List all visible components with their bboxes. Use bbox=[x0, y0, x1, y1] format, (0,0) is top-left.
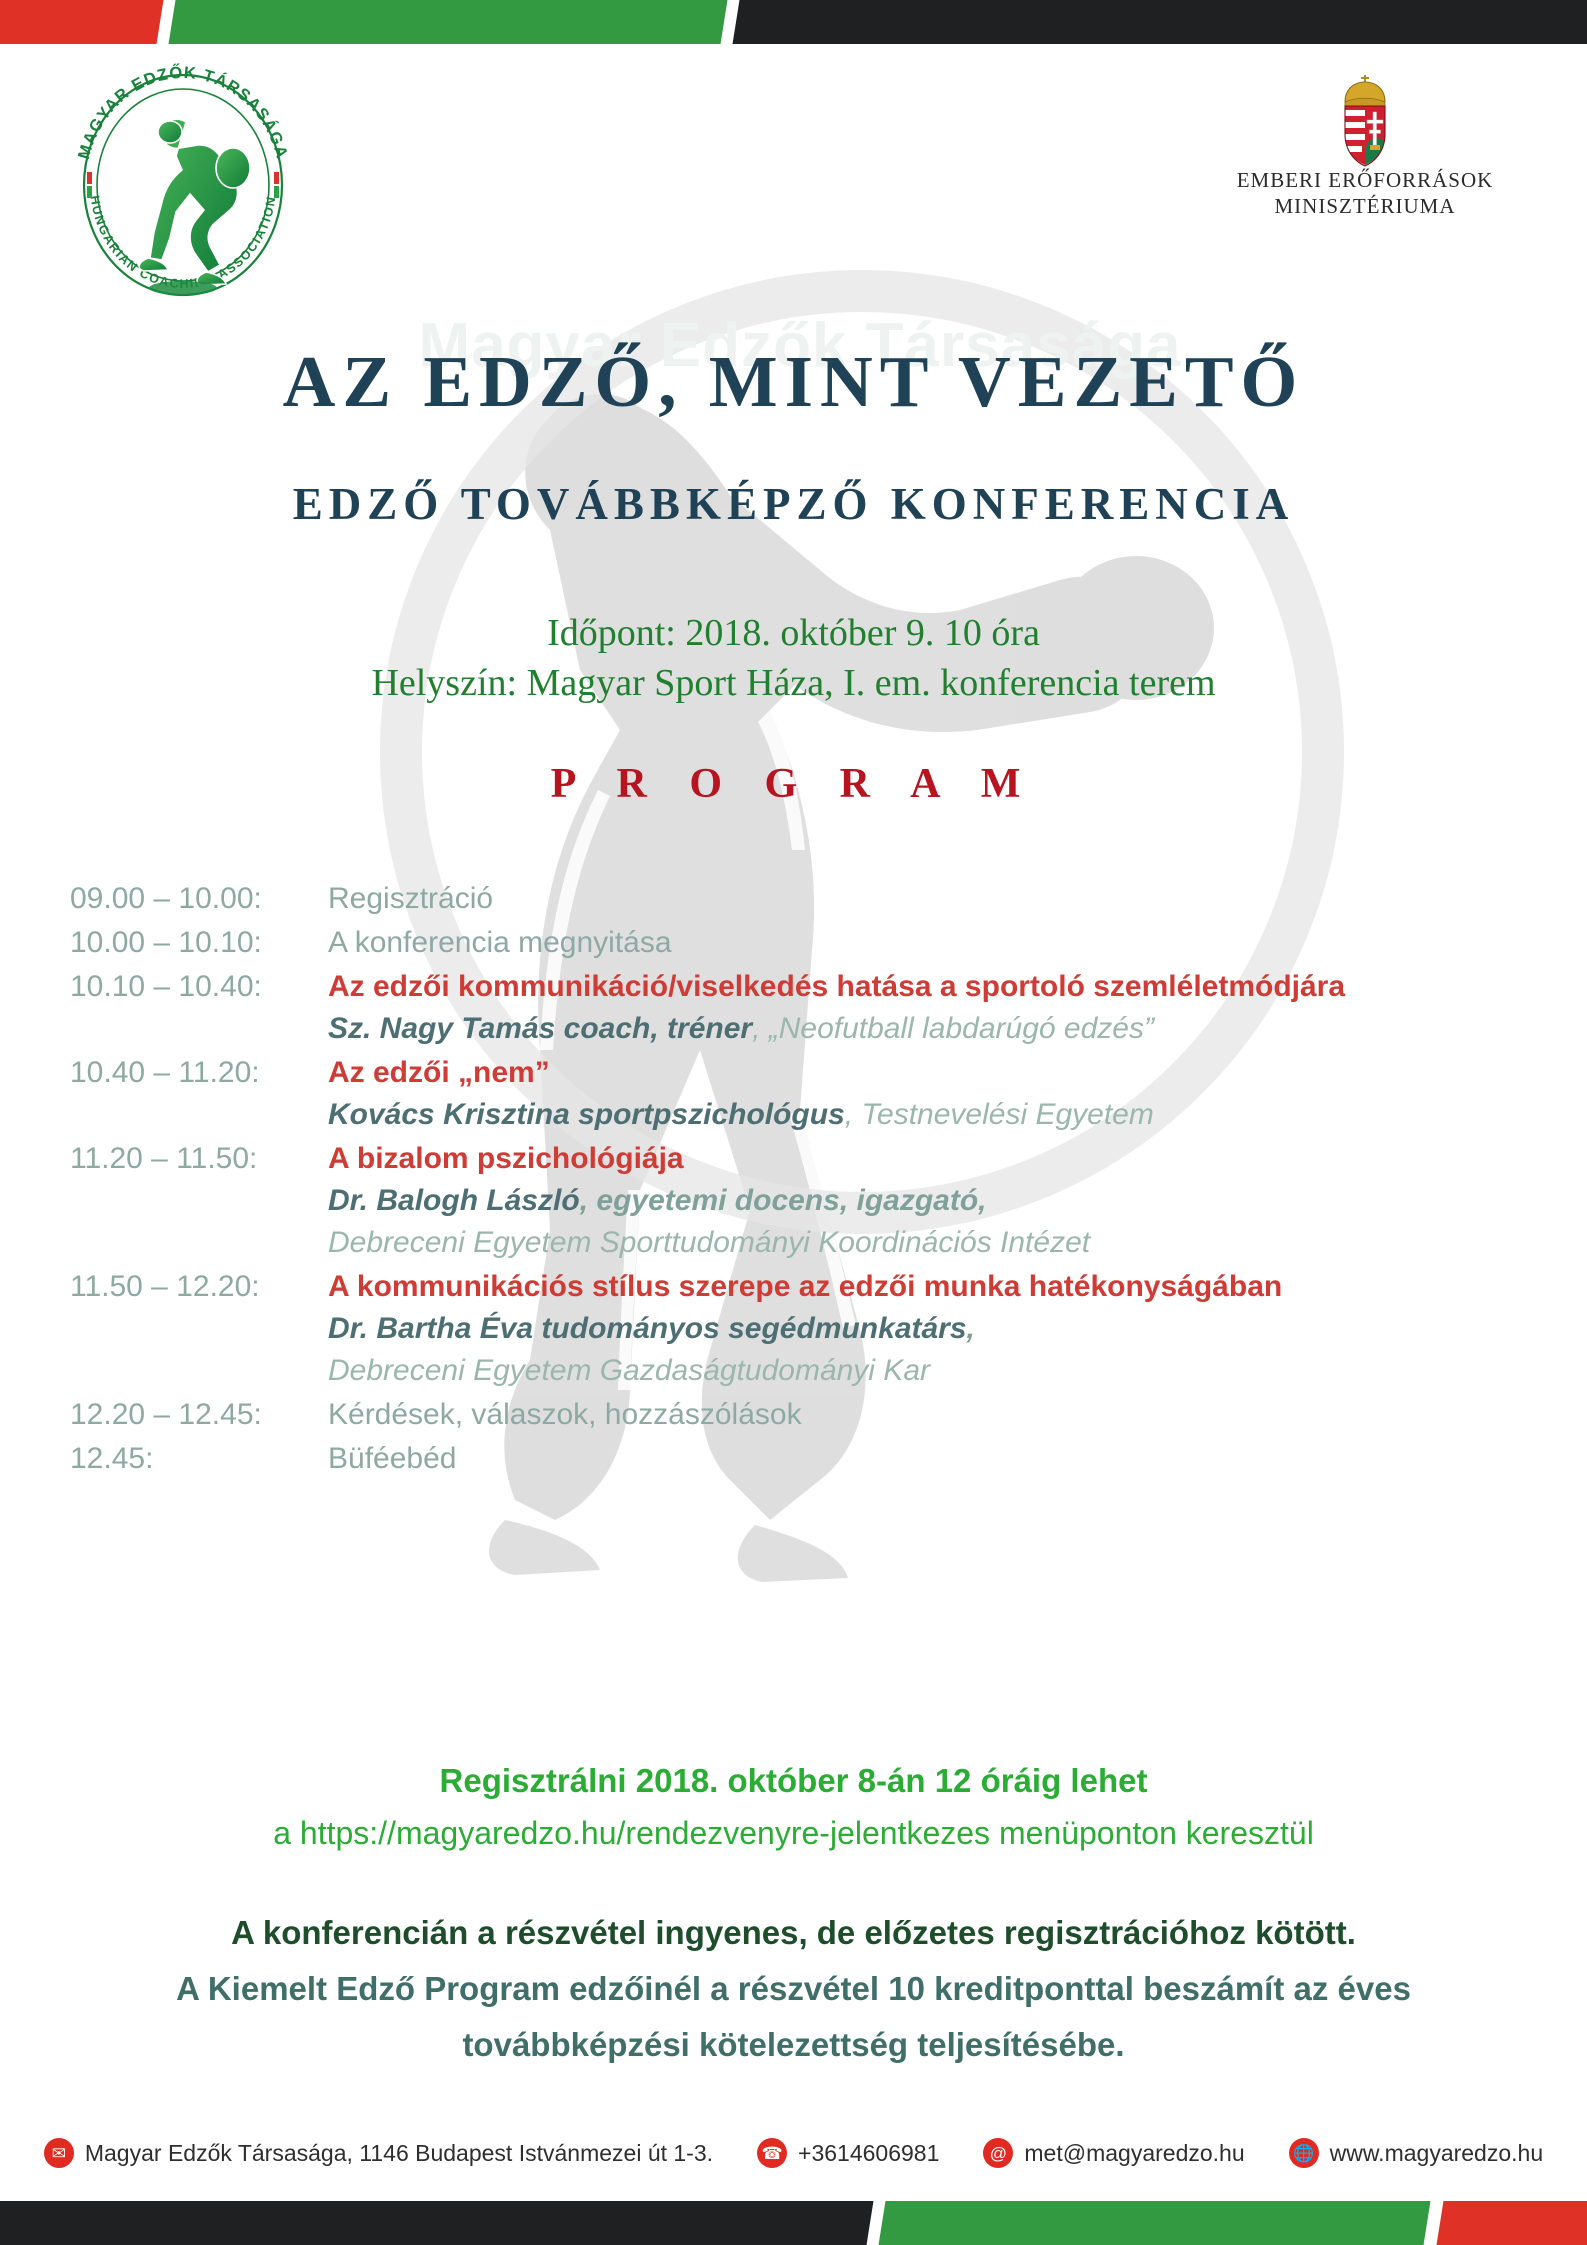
ministry-logo: EMBERI ERŐFORRÁSOK MINISZTÉRIUMA bbox=[1235, 72, 1495, 232]
schedule-title: Regisztráció bbox=[328, 878, 1540, 920]
footer-website-text: www.magyaredzo.hu bbox=[1330, 2140, 1544, 2167]
footer-phone[interactable]: ☎ +3614606981 bbox=[757, 2138, 939, 2168]
schedule-time: 10.10 – 10.40: bbox=[70, 966, 328, 1008]
schedule-presenter: Dr. Bartha Éva tudományos segédmunkatárs… bbox=[328, 1308, 1540, 1350]
ministry-line-1: EMBERI ERŐFORRÁSOK bbox=[1235, 168, 1495, 194]
schedule-time: 11.50 – 12.20: bbox=[70, 1266, 328, 1308]
top-flag-bar bbox=[0, 0, 1587, 44]
globe-icon: 🌐 bbox=[1289, 2138, 1319, 2168]
svg-text:MAGYAR EDZŐK TÁRSASÁGA: MAGYAR EDZŐK TÁRSASÁGA bbox=[75, 63, 291, 161]
association-logo: MAGYAR EDZŐK TÁRSASÁGA HUNGARIAN COACHIN… bbox=[58, 60, 308, 310]
footer-phone-text: +3614606981 bbox=[798, 2140, 939, 2167]
notes-block: A konferencián a részvétel ingyenes, de … bbox=[0, 1905, 1587, 2073]
footer-address: ✉ Magyar Edzők Társasága, 1146 Budapest … bbox=[44, 2138, 713, 2168]
footer-contact-bar: ✉ Magyar Edzők Társasága, 1146 Budapest … bbox=[0, 2125, 1587, 2181]
footer-email-text: met@magyaredzo.hu bbox=[1024, 2140, 1244, 2167]
speaker-name: Dr. Balogh László bbox=[328, 1184, 580, 1217]
speaker-role: , egyetemi docens, igazgató, bbox=[580, 1184, 987, 1217]
schedule-title: Büféebéd bbox=[328, 1438, 1540, 1480]
speaker-affiliation: Debreceni Egyetem Gazdaságtudományi Kar bbox=[328, 1350, 1540, 1392]
schedule-row: 11.20 – 11.50: A bizalom pszichológiája … bbox=[70, 1138, 1540, 1264]
hungarian-coat-of-arms-icon bbox=[1330, 72, 1400, 168]
program-heading: P R O G R A M bbox=[0, 760, 1587, 808]
schedule-title: A kommunikációs stílus szerepe az edzői … bbox=[328, 1266, 1540, 1308]
bottom-flag-bar bbox=[0, 2201, 1587, 2245]
schedule-title: Az edzői kommunikáció/viselkedés hatása … bbox=[328, 970, 1345, 1003]
schedule-time: 12.45: bbox=[70, 1438, 328, 1480]
schedule-row: 09.00 – 10.00: Regisztráció bbox=[70, 878, 1540, 920]
schedule-title: Az edzői „nem” bbox=[328, 1052, 1540, 1094]
registration-how: a https://magyaredzo.hu/rendezvenyre-jel… bbox=[0, 1807, 1587, 1859]
schedule-time: 09.00 – 10.00: bbox=[70, 878, 328, 920]
schedule-time: 12.20 – 12.45: bbox=[70, 1394, 328, 1436]
schedule-row: 10.40 – 11.20: Az edzői „nem” Kovács Kri… bbox=[70, 1052, 1540, 1136]
svg-text:HUNGARIAN COACHING ASSOCIATION: HUNGARIAN COACHING ASSOCIATION bbox=[87, 195, 278, 291]
flag-segment-dark bbox=[0, 2201, 875, 2245]
flag-segment-red bbox=[1435, 2201, 1587, 2245]
schedule-body: Az edzői kommunikáció/viselkedés hatása … bbox=[328, 966, 1540, 1050]
event-meta: Időpont: 2018. október 9. 10 óra Helyszí… bbox=[0, 608, 1587, 708]
schedule-presenter: Dr. Balogh László, egyetemi docens, igaz… bbox=[328, 1180, 1540, 1222]
footer-address-text: Magyar Edzők Társasága, 1146 Budapest Is… bbox=[85, 2140, 713, 2167]
schedule-row: 12.20 – 12.45: Kérdések, válaszok, hozzá… bbox=[70, 1394, 1540, 1436]
registration-block: Regisztrálni 2018. október 8-án 12 óráig… bbox=[0, 1755, 1587, 1859]
schedule-presenter: Sz. Nagy Tamás coach, tréner, „Neofutbal… bbox=[328, 1008, 1540, 1050]
schedule-body: A konferencia megnyitása bbox=[328, 922, 1540, 964]
schedule-title: A bizalom pszichológiája bbox=[328, 1138, 1540, 1180]
speaker-role: , bbox=[967, 1312, 975, 1345]
program-schedule: 09.00 – 10.00: Regisztráció 10.00 – 10.1… bbox=[70, 878, 1540, 1482]
registration-deadline: Regisztrálni 2018. október 8-án 12 óráig… bbox=[0, 1755, 1587, 1807]
schedule-body: Büféebéd bbox=[328, 1438, 1540, 1480]
schedule-time: 10.00 – 10.10: bbox=[70, 922, 328, 964]
schedule-row: 12.45: Büféebéd bbox=[70, 1438, 1540, 1480]
note-free-participation: A konferencián a részvétel ingyenes, de … bbox=[0, 1905, 1587, 1961]
flag-segment-dark bbox=[731, 0, 1587, 44]
event-venue: Helyszín: Magyar Sport Háza, I. em. konf… bbox=[0, 658, 1587, 708]
note-credit-line-1: A Kiemelt Edző Program edzőinél a részvé… bbox=[0, 1961, 1587, 2017]
note-credit-line-2: továbbképzési kötelezettség teljesítéséb… bbox=[0, 2017, 1587, 2073]
speaker-name: Sz. Nagy Tamás coach, tréner bbox=[328, 1012, 752, 1045]
schedule-body: A kommunikációs stílus szerepe az edzői … bbox=[328, 1266, 1540, 1392]
envelope-icon: ✉ bbox=[44, 2138, 74, 2168]
page-subtitle: EDZŐ TOVÁBBKÉPZŐ KONFERENCIA bbox=[0, 478, 1587, 530]
speaker-affiliation: Debreceni Egyetem Sporttudományi Koordin… bbox=[328, 1222, 1540, 1264]
footer-website[interactable]: 🌐 www.magyaredzo.hu bbox=[1289, 2138, 1544, 2168]
speaker-affiliation: , „Neofutball labdarúgó edzés” bbox=[752, 1012, 1154, 1045]
conference-poster: Magyar Edzők Társasága MAGYAR EDZŐK TÁRS… bbox=[0, 0, 1587, 2245]
schedule-title: A konferencia megnyitása bbox=[328, 922, 1540, 964]
flag-segment-red bbox=[0, 0, 165, 44]
speaker-name: Dr. Bartha Éva tudományos segédmunkatárs bbox=[328, 1312, 967, 1345]
schedule-time: 10.40 – 11.20: bbox=[70, 1052, 328, 1094]
at-icon: @ bbox=[983, 2138, 1013, 2168]
schedule-row: 10.00 – 10.10: A konferencia megnyitása bbox=[70, 922, 1540, 964]
speaker-name: Kovács Krisztina sportpszichológus bbox=[328, 1098, 845, 1131]
met-seal-icon: MAGYAR EDZŐK TÁRSASÁGA HUNGARIAN COACHIN… bbox=[58, 60, 308, 310]
schedule-body: Kérdések, válaszok, hozzászólások bbox=[328, 1394, 1540, 1436]
schedule-body: Regisztráció bbox=[328, 878, 1540, 920]
footer-email[interactable]: @ met@magyaredzo.hu bbox=[983, 2138, 1244, 2168]
schedule-time: 11.20 – 11.50: bbox=[70, 1138, 328, 1180]
schedule-row: 11.50 – 12.20: A kommunikációs stílus sz… bbox=[70, 1266, 1540, 1392]
schedule-row: 10.10 – 10.40: Az edzői kommunikáció/vis… bbox=[70, 966, 1540, 1050]
flag-segment-green bbox=[877, 2201, 1432, 2245]
schedule-body: Az edzői „nem” Kovács Krisztina sportpsz… bbox=[328, 1052, 1540, 1136]
event-date: Időpont: 2018. október 9. 10 óra bbox=[0, 608, 1587, 658]
schedule-body: A bizalom pszichológiája Dr. Balogh Lász… bbox=[328, 1138, 1540, 1264]
ministry-line-2: MINISZTÉRIUMA bbox=[1235, 194, 1495, 220]
phone-icon: ☎ bbox=[757, 2138, 787, 2168]
page-title: AZ EDZŐ, MINT VEZETŐ bbox=[0, 340, 1587, 424]
schedule-title: Kérdések, válaszok, hozzászólások bbox=[328, 1394, 1540, 1436]
flag-segment-green bbox=[167, 0, 729, 44]
schedule-presenter: Kovács Krisztina sportpszichológus, Test… bbox=[328, 1094, 1540, 1136]
speaker-affiliation: , Testnevelési Egyetem bbox=[845, 1098, 1154, 1131]
